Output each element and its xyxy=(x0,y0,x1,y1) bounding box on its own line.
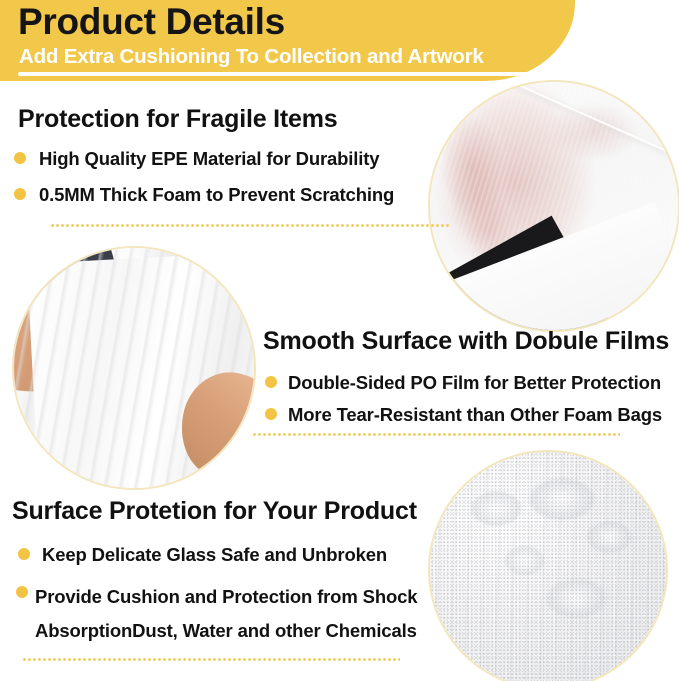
bullet-label: Keep Delicate Glass Safe and Unbroken xyxy=(42,542,387,567)
bullet-item: Keep Delicate Glass Safe and Unbroken xyxy=(18,542,452,567)
section-surface-protection: Surface Protetion for Your Product Keep … xyxy=(12,495,452,648)
subtitle-underline xyxy=(18,72,536,76)
bullet-dot-icon xyxy=(14,188,26,200)
bullet-item: More Tear-Resistant than Other Foam Bags xyxy=(265,402,667,427)
bullet-dot-icon xyxy=(14,152,26,164)
bullet-label: 0.5MM Thick Foam to Prevent Scratching xyxy=(39,182,394,207)
bullet-item: Double-Sided PO Film for Better Protecti… xyxy=(265,370,667,395)
foam-texture-speckle xyxy=(430,452,666,681)
section-fragile-protection: Protection for Fragile Items High Qualit… xyxy=(18,103,394,207)
page-title: Product Details xyxy=(18,0,285,45)
photo-fragile-protection xyxy=(430,82,678,330)
bullet-dot-icon xyxy=(18,548,30,560)
bullet-label: More Tear-Resistant than Other Foam Bags xyxy=(288,402,662,427)
section-heading-smooth: Smooth Surface with Dobule Films xyxy=(263,325,667,357)
dotted-divider xyxy=(252,433,620,436)
bullet-item: Provide Cushion and Protection from Shoc… xyxy=(16,580,452,648)
bullet-label: Double-Sided PO Film for Better Protecti… xyxy=(288,370,661,395)
product-details-infographic: Product Details Add Extra Cushioning To … xyxy=(0,0,679,681)
photo-surface-protection xyxy=(430,452,666,681)
dotted-divider xyxy=(22,658,400,661)
section-smooth-surface: Smooth Surface with Dobule Films Double-… xyxy=(263,325,667,427)
bullet-label: High Quality EPE Material for Durability xyxy=(39,146,379,171)
bullet-dot-icon xyxy=(265,376,277,388)
bullet-item: High Quality EPE Material for Durability xyxy=(14,146,394,171)
bullet-dot-icon xyxy=(16,586,28,598)
photo-smooth-surface xyxy=(14,248,254,488)
dotted-divider xyxy=(50,224,450,227)
bullet-item: 0.5MM Thick Foam to Prevent Scratching xyxy=(14,182,394,207)
bullet-label: Provide Cushion and Protection from Shoc… xyxy=(35,580,452,648)
section-heading-fragile: Protection for Fragile Items xyxy=(18,103,394,135)
bullet-dot-icon xyxy=(265,408,277,420)
section-heading-surface: Surface Protetion for Your Product xyxy=(12,495,452,527)
page-subtitle: Add Extra Cushioning To Collection and A… xyxy=(19,44,484,70)
